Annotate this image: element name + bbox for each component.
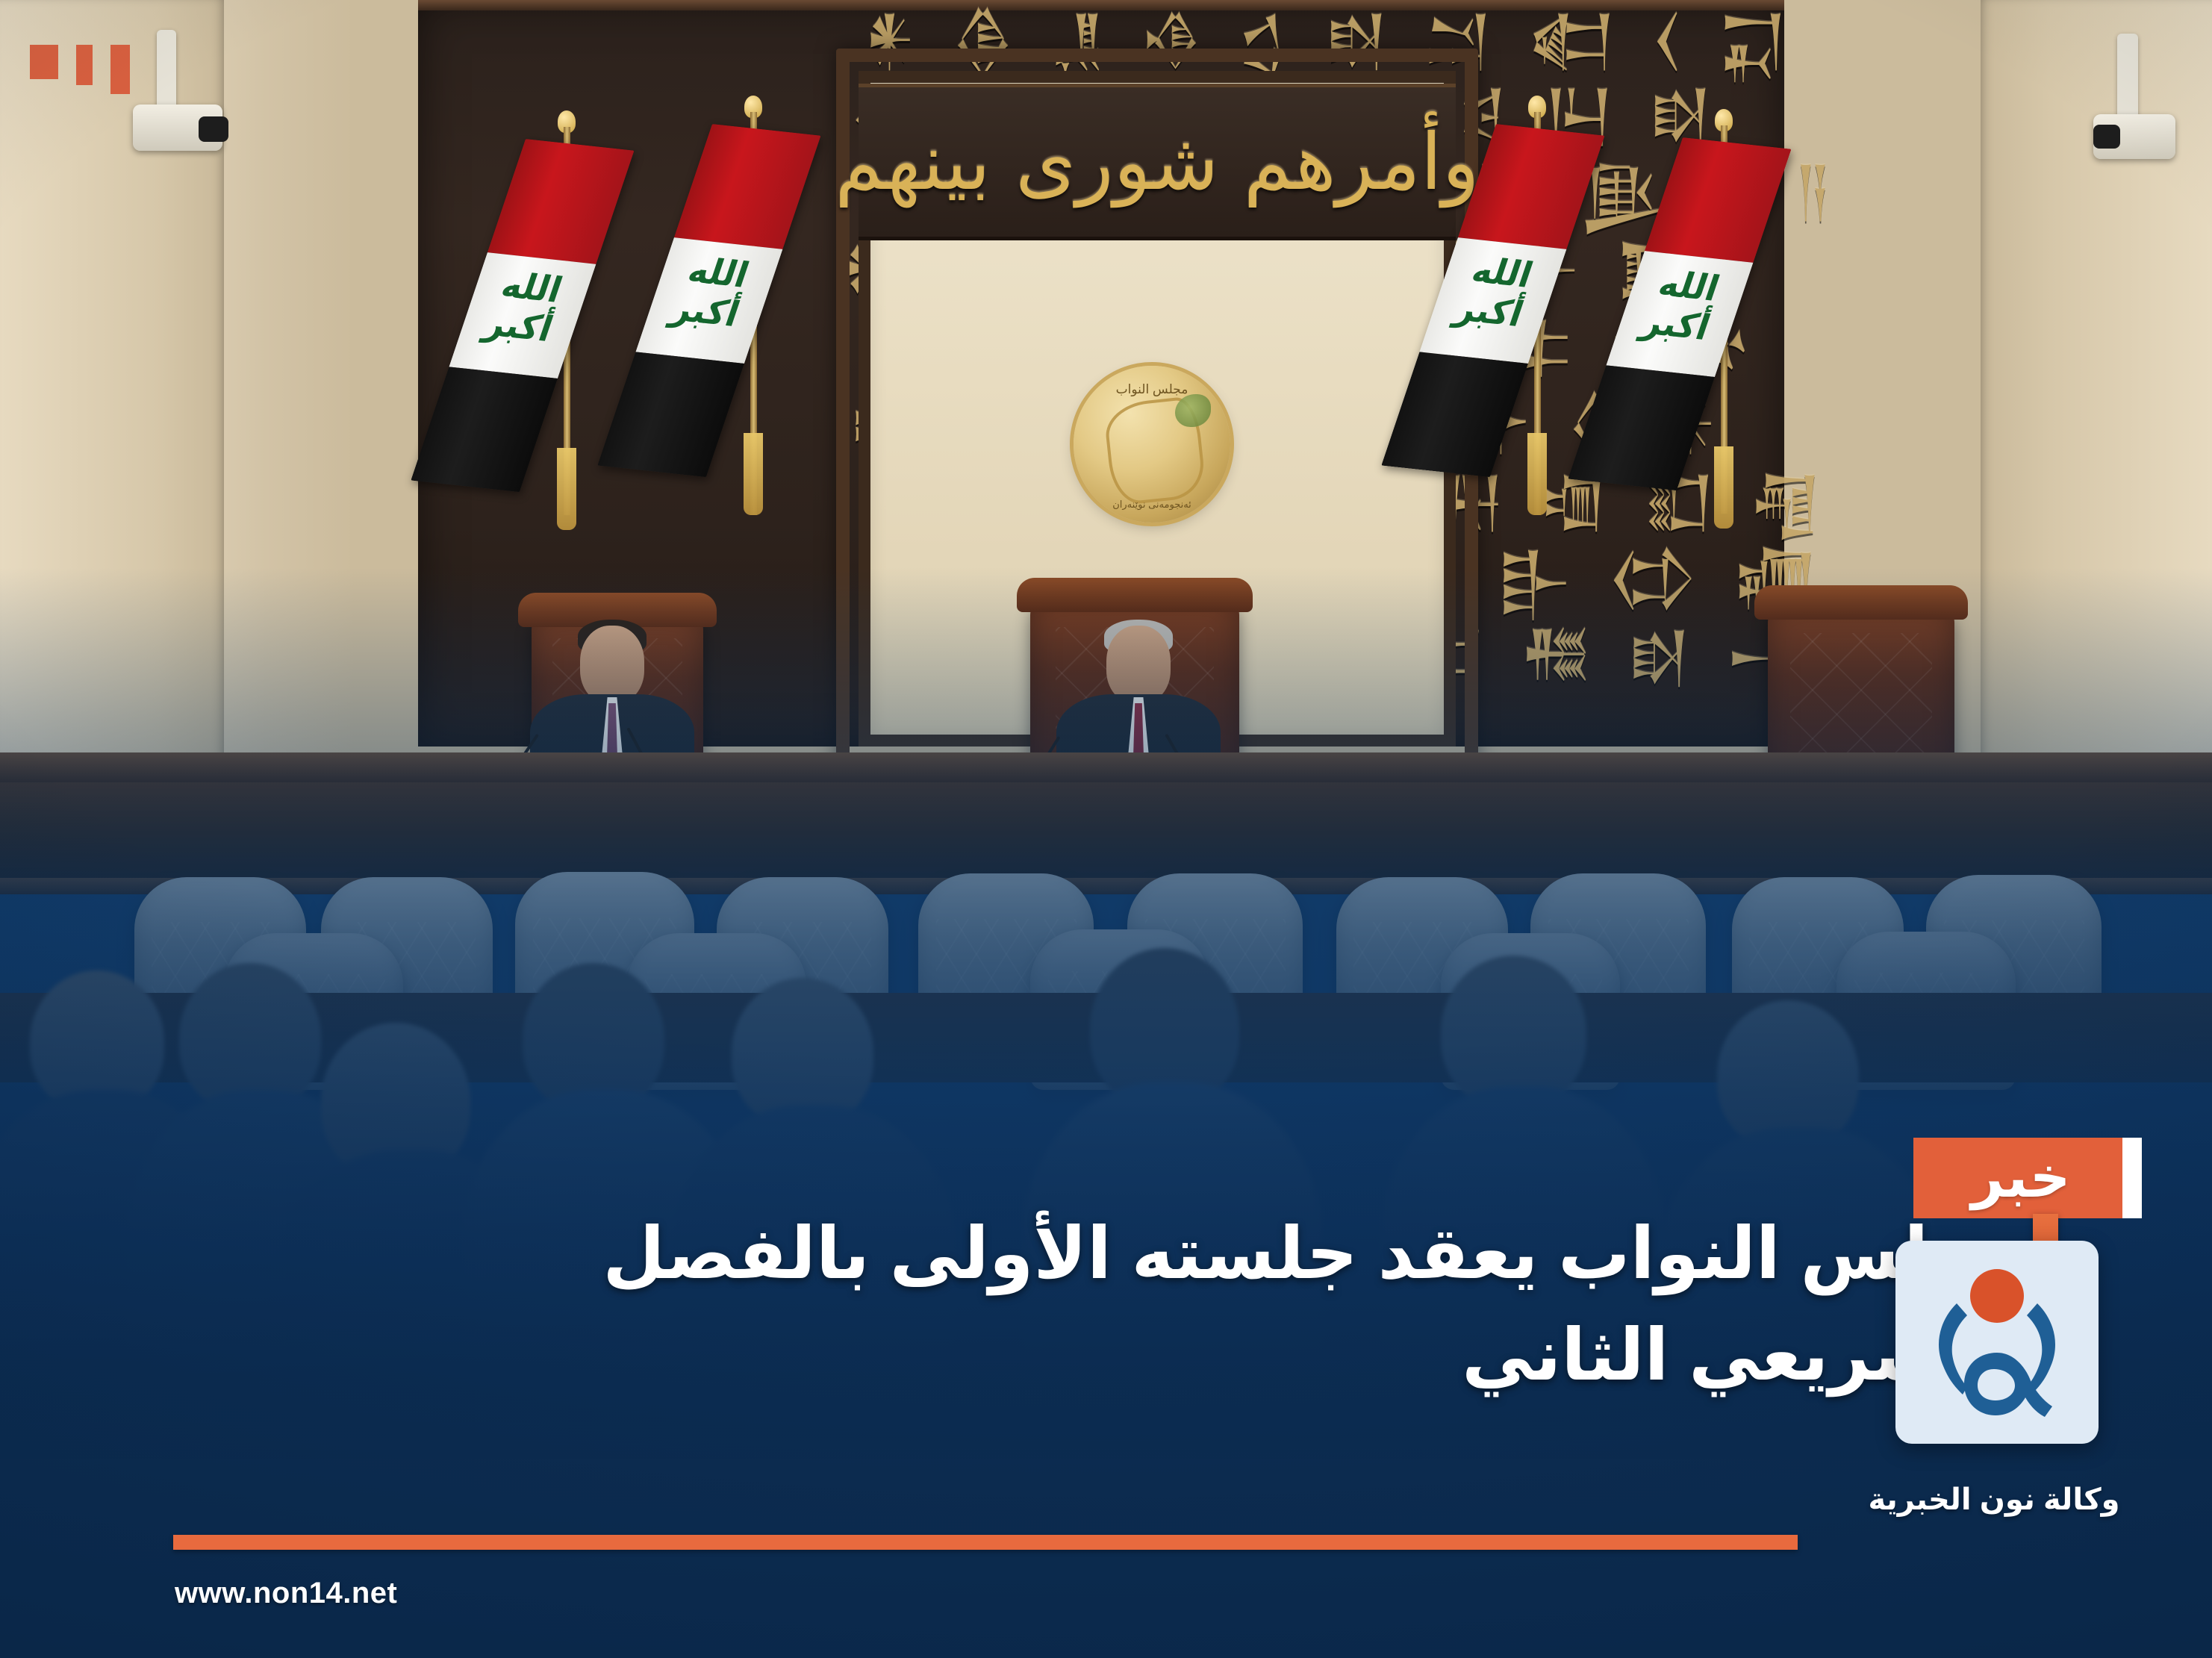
flag-tassel bbox=[1527, 433, 1547, 515]
camera-lens-icon bbox=[2093, 125, 2120, 149]
news-badge-stripe bbox=[2122, 1138, 2142, 1218]
camera-arm bbox=[157, 30, 176, 112]
camera-lens-icon bbox=[199, 116, 228, 142]
iraq-flag: الله أكبر bbox=[709, 112, 797, 515]
iraq-flag: الله أكبر bbox=[523, 127, 611, 515]
footer-rule bbox=[173, 1535, 1798, 1550]
logo-right-arm bbox=[2027, 1303, 2055, 1394]
orange-tick-marks bbox=[30, 45, 130, 94]
tick-mark bbox=[110, 45, 130, 94]
camera-arm bbox=[2117, 34, 2138, 122]
tick-mark bbox=[76, 45, 93, 85]
quran-calligraphy: وأمرهم شورى بينهم bbox=[835, 116, 1480, 208]
emblem-label-top: مجلس النواب bbox=[1074, 382, 1230, 397]
news-card: 𒀭 𒆠 𒂗 𒈾 𒌓 𒊭 𒁺 𒅗 𒌋 𒍑 𒆠 𒀀 𒄿 𒇻 𒊏 𒂊 𒍝 𒁀 𒌨 𒊭 … bbox=[0, 0, 2212, 1658]
iraq-flag: الله أكبر bbox=[1680, 125, 1768, 514]
headline: مجلس النواب يعقد جلسته الأولى بالفصل الت… bbox=[422, 1203, 2027, 1406]
news-badge-label: خبر bbox=[1971, 1149, 2070, 1207]
flag-tassel bbox=[744, 433, 763, 515]
tick-mark bbox=[30, 45, 58, 79]
emblem-leaf-icon bbox=[1175, 394, 1211, 427]
logo-head-circle bbox=[1970, 1269, 2024, 1323]
security-camera-icon bbox=[2075, 34, 2202, 175]
agency-name: وكالة نون الخبرية bbox=[1860, 1480, 2128, 1520]
logo-left-arm bbox=[1939, 1303, 1967, 1394]
calligraphy-plaque: وأمرهم شورى بينهم bbox=[859, 84, 1456, 240]
website-url: www.non14.net bbox=[175, 1577, 397, 1610]
security-camera-icon bbox=[127, 30, 254, 164]
agency-logo bbox=[1895, 1241, 2099, 1444]
flag-tassel bbox=[557, 448, 576, 530]
parliament-emblem-icon: مجلس النواب ئه‌نجومه‌نی نوێنه‌ران bbox=[1074, 366, 1230, 523]
iraq-flag: الله أكبر bbox=[1493, 112, 1581, 515]
flag-tassel bbox=[1714, 446, 1733, 529]
emblem-label-bottom: ئه‌نجومه‌نی نوێنه‌ران bbox=[1074, 499, 1230, 511]
